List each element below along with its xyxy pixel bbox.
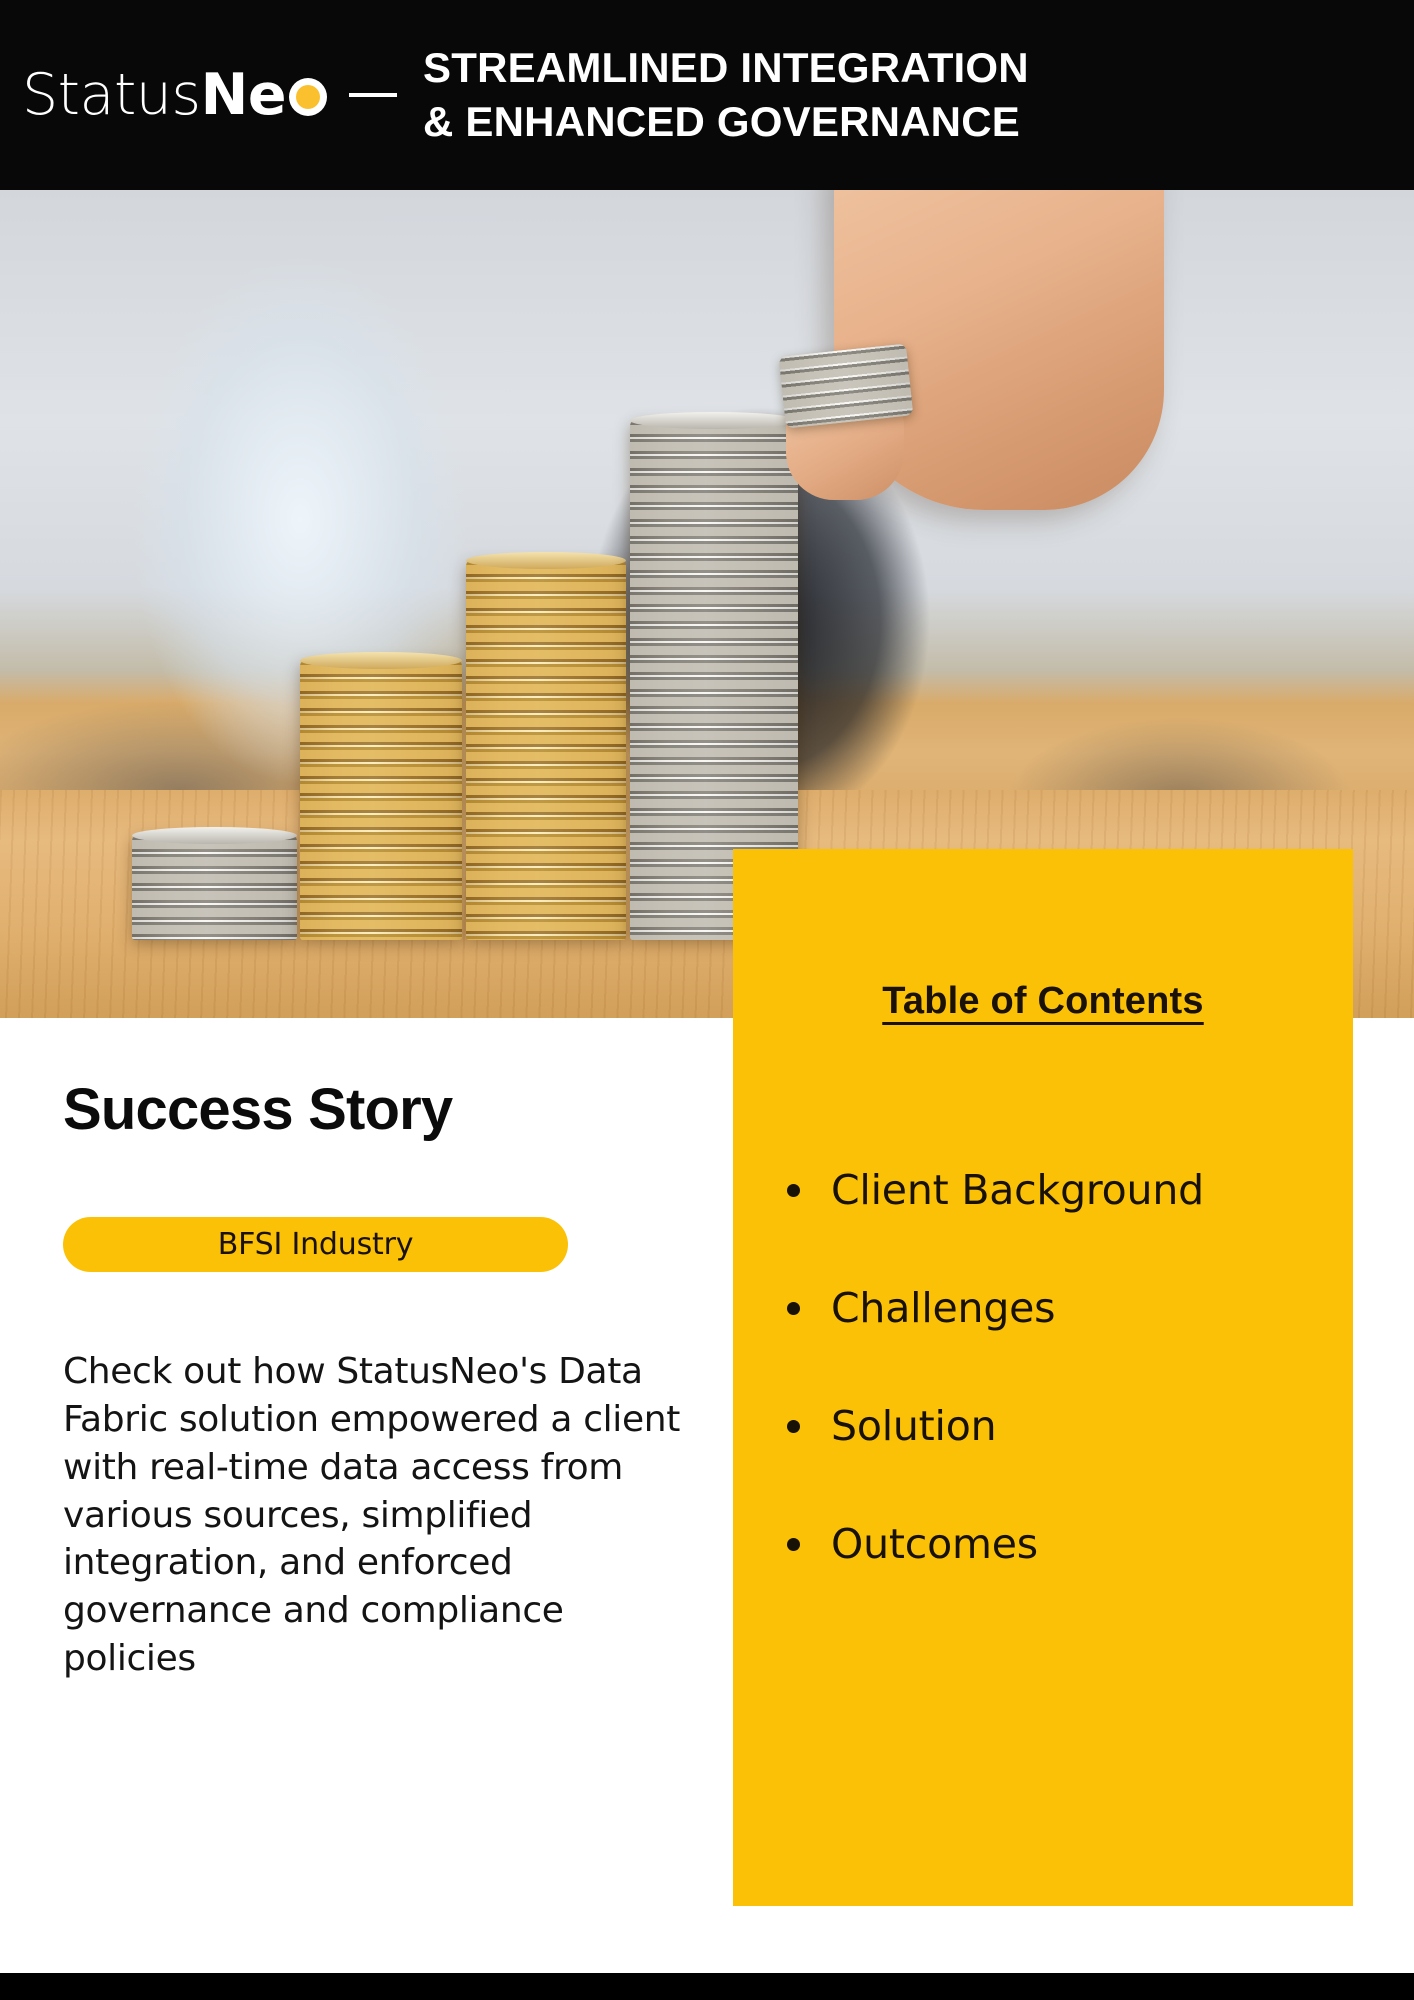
- toc-item-label: Outcomes: [831, 1520, 1038, 1568]
- success-story-page: StatusNe STREAMLINED INTEGRATION & ENHAN…: [0, 0, 1414, 2000]
- table-of-contents-panel: Table of Contents Client Background Chal…: [733, 849, 1353, 1906]
- statusneo-logo[interactable]: StatusNe: [22, 67, 327, 124]
- coin-stack-2: [300, 660, 462, 940]
- held-coin-icon: [779, 344, 914, 429]
- header-title: STREAMLINED INTEGRATION & ENHANCED GOVER…: [423, 41, 1063, 149]
- body-copy: Check out how StatusNeo's Data Fabric so…: [63, 1348, 693, 1683]
- bullet-icon: [787, 1302, 800, 1315]
- coin-stack-3: [466, 560, 626, 940]
- logo-text-status: Status: [22, 67, 201, 124]
- footer-bar: [0, 1973, 1414, 2000]
- bullet-icon: [787, 1538, 800, 1551]
- toc-item-label: Solution: [831, 1402, 996, 1450]
- toc-item-solution[interactable]: Solution: [787, 1367, 1353, 1485]
- page-header: StatusNe STREAMLINED INTEGRATION & ENHAN…: [0, 0, 1414, 190]
- bullet-icon: [787, 1184, 800, 1197]
- toc-list: Client Background Challenges Solution Ou…: [733, 1131, 1353, 1603]
- bullet-icon: [787, 1420, 800, 1433]
- logo-dot-icon: [289, 78, 327, 116]
- coin-stack-1: [132, 835, 297, 940]
- toc-item-client-background[interactable]: Client Background: [787, 1131, 1353, 1249]
- horizontal-dash-icon: [349, 93, 397, 97]
- logo-text-neo: Ne: [201, 67, 286, 124]
- toc-item-challenges[interactable]: Challenges: [787, 1249, 1353, 1367]
- toc-item-outcomes[interactable]: Outcomes: [787, 1485, 1353, 1603]
- industry-badge: BFSI Industry: [63, 1217, 568, 1272]
- toc-item-label: Client Background: [831, 1166, 1204, 1214]
- toc-item-label: Challenges: [831, 1284, 1055, 1332]
- toc-title: Table of Contents: [733, 980, 1353, 1023]
- page-title: Success Story: [63, 1080, 703, 1141]
- main-content: Success Story BFSI Industry Check out ho…: [63, 1080, 703, 1683]
